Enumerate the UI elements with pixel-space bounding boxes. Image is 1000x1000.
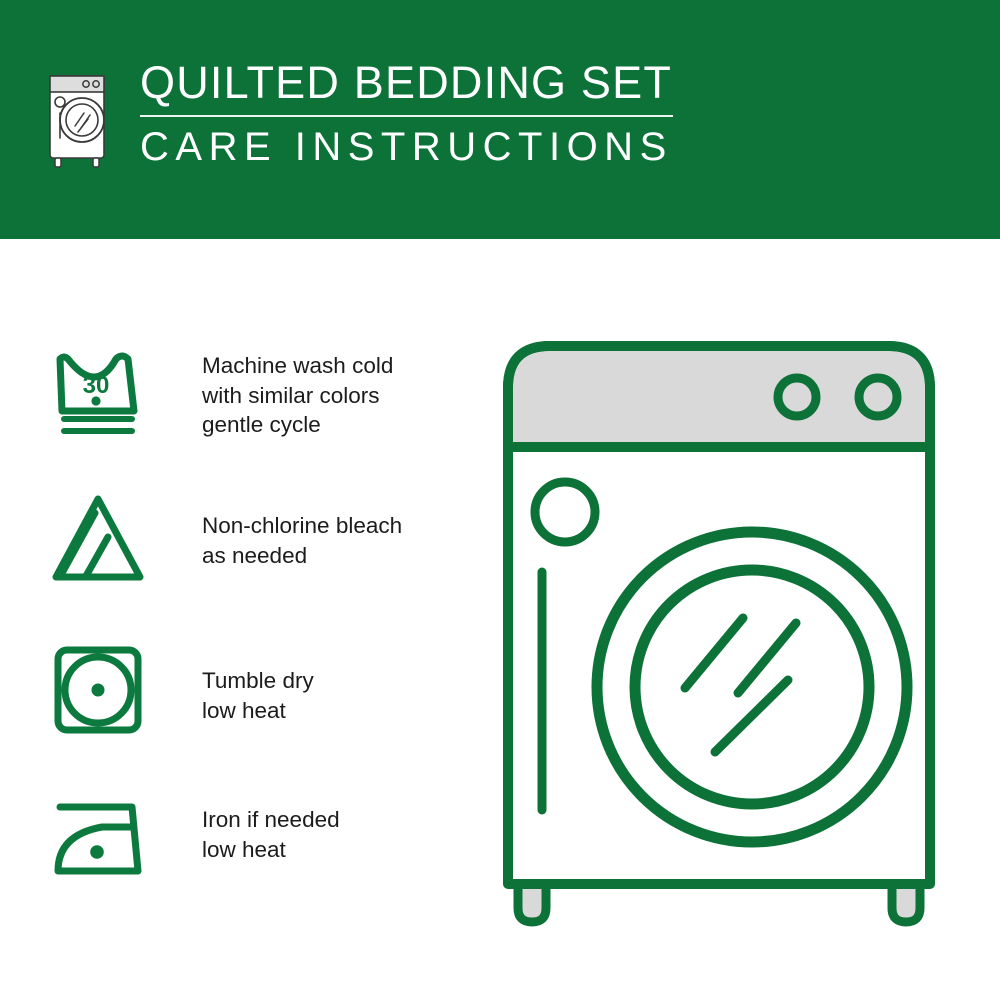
title-divider (140, 115, 673, 117)
care-row-wash: 30 Machine wash cold with similar colors… (48, 343, 468, 443)
wash-tub-30-gentle-icon: 30 (48, 343, 160, 443)
header-band: QUILTED BEDDING SET CARE INSTRUCTIONS (0, 0, 1000, 239)
care-row-bleach: Non-chlorine bleach as needed (48, 489, 468, 589)
header-content: QUILTED BEDDING SET CARE INSTRUCTIONS (44, 58, 673, 170)
non-chlorine-bleach-triangle-icon (48, 489, 160, 589)
front-load-washing-machine-illustration (470, 300, 1000, 960)
care-label-tumble-dry: Tumble dry low heat (202, 642, 314, 725)
wash-temperature-value: 30 (83, 372, 110, 399)
page-title: QUILTED BEDDING SET (140, 58, 673, 108)
care-label-bleach: Non-chlorine bleach as needed (202, 489, 402, 570)
care-instructions-page: QUILTED BEDDING SET CARE INSTRUCTIONS 30 (0, 0, 1000, 1000)
care-label-wash: Machine wash cold with similar colors ge… (202, 343, 393, 440)
care-row-tumble-dry: Tumble dry low heat (48, 642, 468, 742)
header-titles: QUILTED BEDDING SET CARE INSTRUCTIONS (140, 58, 673, 170)
page-subtitle: CARE INSTRUCTIONS (140, 125, 673, 170)
care-instruction-list: 30 Machine wash cold with similar colors… (0, 239, 470, 1000)
washing-machine-icon (44, 58, 114, 170)
tumble-dry-low-heat-icon (48, 642, 160, 742)
care-label-iron: Iron if needed low heat (202, 791, 340, 864)
care-row-iron: Iron if needed low heat (48, 791, 468, 891)
iron-low-heat-icon (48, 791, 160, 891)
